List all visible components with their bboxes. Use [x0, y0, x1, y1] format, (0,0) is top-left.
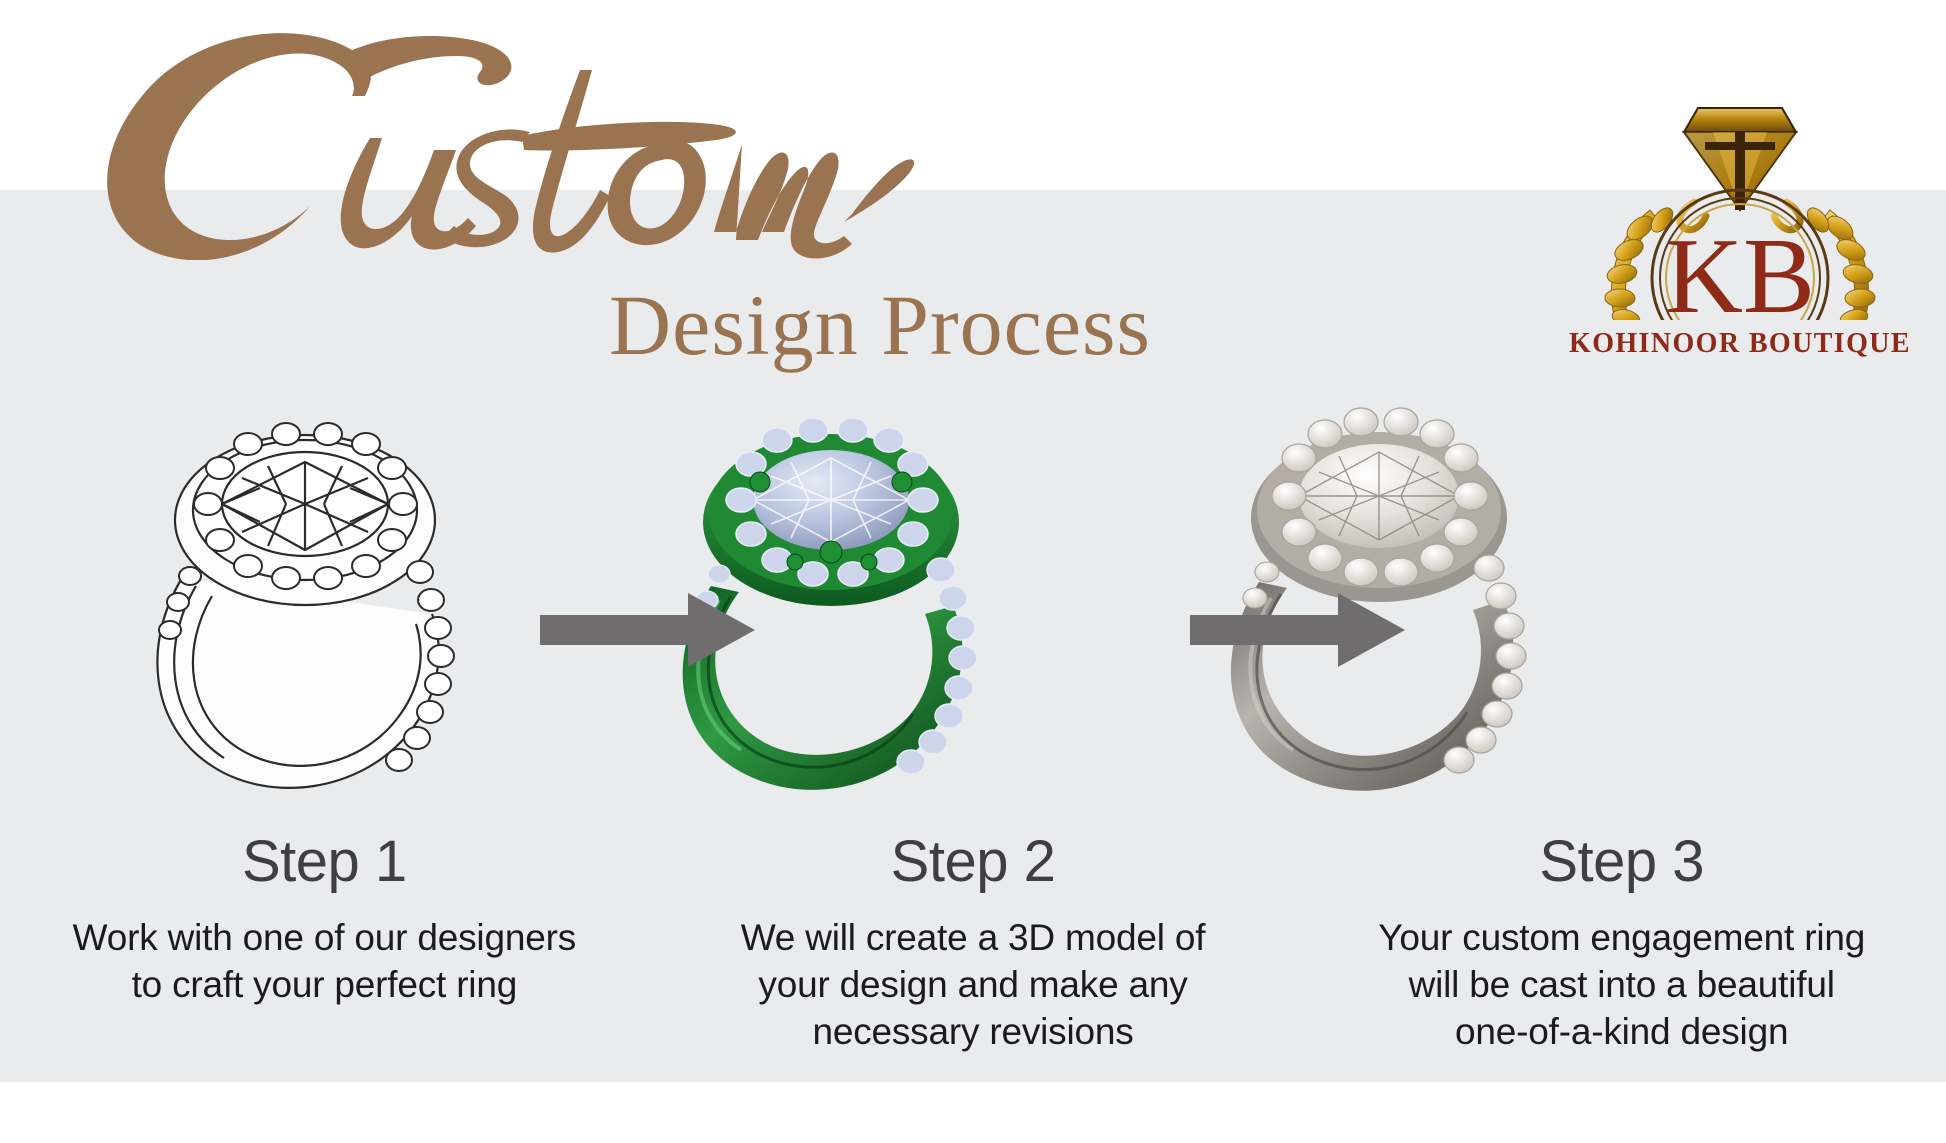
step-description: We will create a 3D model of your design… — [675, 915, 1272, 1056]
logo-brand-name: KOHINOOR BOUTIQUE — [1530, 328, 1946, 360]
background-band-bottom — [0, 1082, 1946, 1143]
ring-sketch-wireframe-icon — [120, 400, 480, 800]
step-description-line: one-of-a-kind design — [1323, 1009, 1920, 1056]
steps-row: Step 1 Work with one of our designers to… — [0, 832, 1946, 1082]
step-description-line: to craft your perfect ring — [26, 962, 623, 1009]
step-description-line: your design and make any — [675, 962, 1272, 1009]
step-description-line: Your custom engagement ring — [1323, 915, 1920, 962]
step-description: Your custom engagement ring will be cast… — [1323, 915, 1920, 1056]
logo-mark-icon: KB — [1530, 60, 1946, 320]
step-description-line: will be cast into a beautiful — [1323, 962, 1920, 1009]
process-stage — [0, 400, 1946, 800]
step-title: Step 2 — [675, 832, 1272, 893]
step-description-line: Work with one of our designers — [26, 915, 623, 962]
custom-script-title — [52, 10, 952, 260]
page-subtitle: Design Process — [520, 282, 1240, 368]
step-title: Step 3 — [1323, 832, 1920, 893]
step-item-3: Step 3 Your custom engagement ring will … — [1297, 832, 1946, 1082]
poster-canvas: Design Process — [0, 0, 1946, 1143]
step-description-line: We will create a 3D model of — [675, 915, 1272, 962]
step-item-1: Step 1 Work with one of our designers to… — [0, 832, 649, 1082]
arrow-right-icon — [1190, 585, 1405, 675]
step-item-2: Step 2 We will create a 3D model of your… — [649, 832, 1298, 1082]
step-description-line: necessary revisions — [675, 1009, 1272, 1056]
brand-logo: KB KOHINOOR BOUTIQUE — [1530, 60, 1946, 370]
logo-monogram-text: KB — [1665, 217, 1815, 320]
diamond-icon — [1680, 108, 1800, 230]
arrow-right-icon — [540, 585, 755, 675]
step-title: Step 1 — [26, 832, 623, 893]
step-description: Work with one of our designers to craft … — [26, 915, 623, 1009]
